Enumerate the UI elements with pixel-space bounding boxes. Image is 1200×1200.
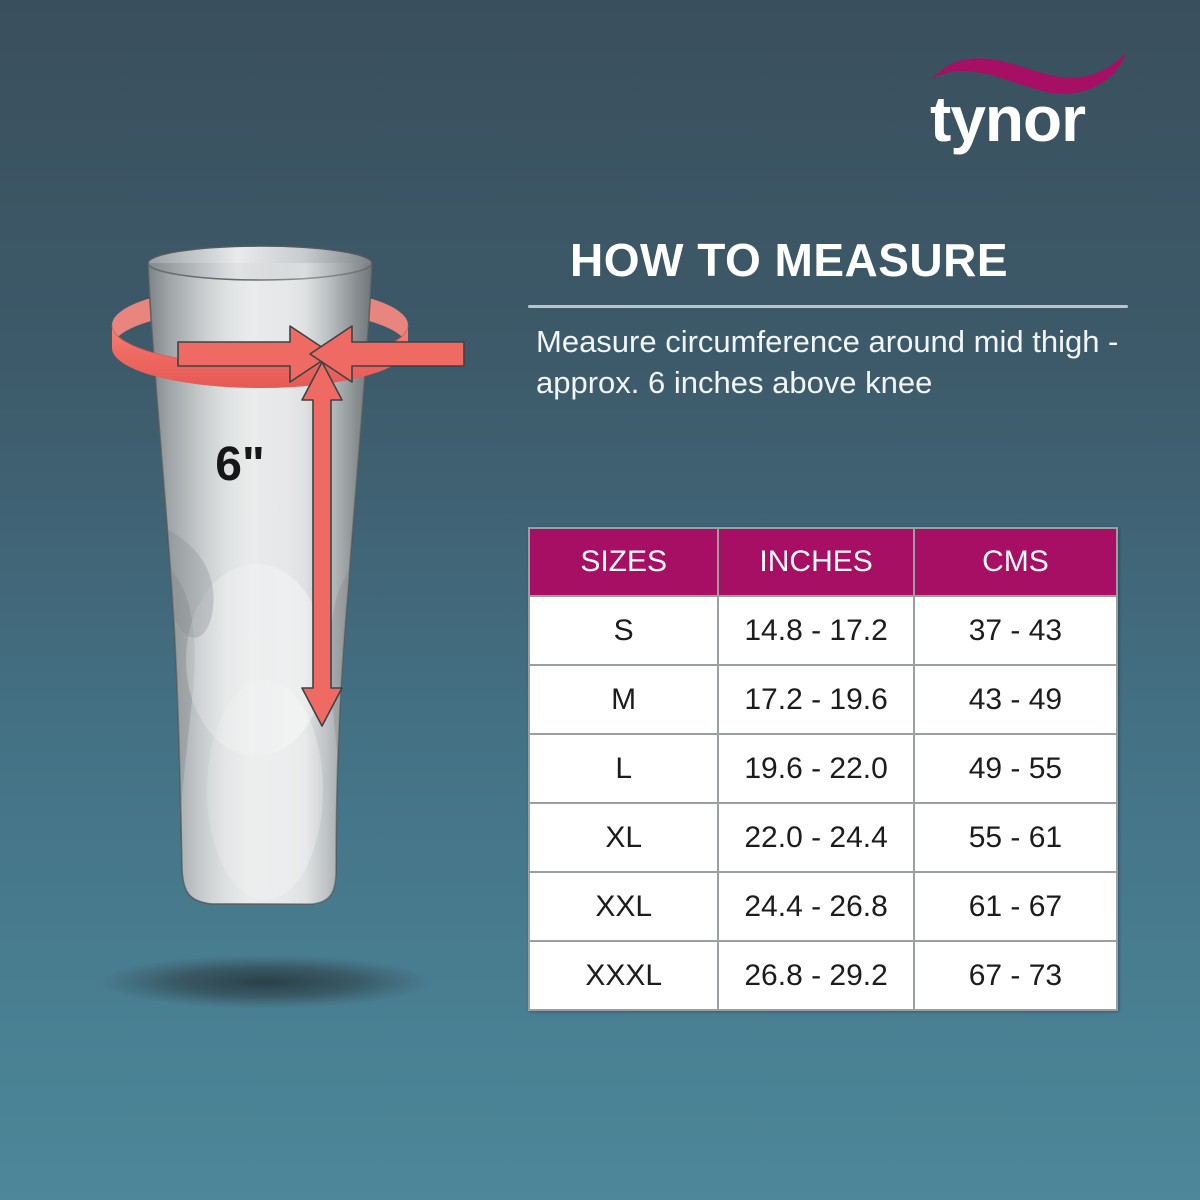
cell-size: XXL <box>529 872 718 941</box>
cell-inches: 24.4 - 26.8 <box>718 872 913 941</box>
cell-size: S <box>529 596 718 665</box>
cell-cms: 49 - 55 <box>914 734 1117 803</box>
cell-inches: 26.8 - 29.2 <box>718 941 913 1010</box>
table-row: S 14.8 - 17.2 37 - 43 <box>529 596 1117 665</box>
cell-cms: 37 - 43 <box>914 596 1117 665</box>
title-divider <box>528 305 1128 308</box>
floor-shadow <box>97 955 433 1009</box>
cell-inches: 17.2 - 19.6 <box>718 665 913 734</box>
table-row: XXXL 26.8 - 29.2 67 - 73 <box>529 941 1117 1010</box>
cell-size: XL <box>529 803 718 872</box>
cell-inches: 19.6 - 22.0 <box>718 734 913 803</box>
cell-cms: 67 - 73 <box>914 941 1117 1010</box>
cell-cms: 43 - 49 <box>914 665 1117 734</box>
table-header-row: SIZES INCHES CMS <box>529 528 1117 596</box>
cell-size: L <box>529 734 718 803</box>
table-row: L 19.6 - 22.0 49 - 55 <box>529 734 1117 803</box>
cell-size: M <box>529 665 718 734</box>
height-label: 6" <box>215 438 264 491</box>
brand-logo: tynor <box>930 45 1130 165</box>
cell-inches: 14.8 - 17.2 <box>718 596 913 665</box>
page-title: HOW TO MEASURE <box>570 236 1008 284</box>
column-header-sizes: SIZES <box>529 528 718 596</box>
table-row: XL 22.0 - 24.4 55 - 61 <box>529 803 1117 872</box>
cell-cms: 55 - 61 <box>914 803 1117 872</box>
measure-instruction: Measure circumference around mid thigh -… <box>536 322 1136 404</box>
cell-size: XXXL <box>529 941 718 1010</box>
leg-measurement-illustration: 6" <box>60 230 480 1030</box>
cell-cms: 61 - 67 <box>914 872 1117 941</box>
table-row: XXL 24.4 - 26.8 61 - 67 <box>529 872 1117 941</box>
cell-inches: 22.0 - 24.4 <box>718 803 913 872</box>
brand-wordmark: tynor <box>930 87 1130 151</box>
table-row: M 17.2 - 19.6 43 - 49 <box>529 665 1117 734</box>
size-chart-table: SIZES INCHES CMS S 14.8 - 17.2 37 - 43 M… <box>528 527 1118 1011</box>
column-header-cms: CMS <box>914 528 1117 596</box>
column-header-inches: INCHES <box>718 528 913 596</box>
